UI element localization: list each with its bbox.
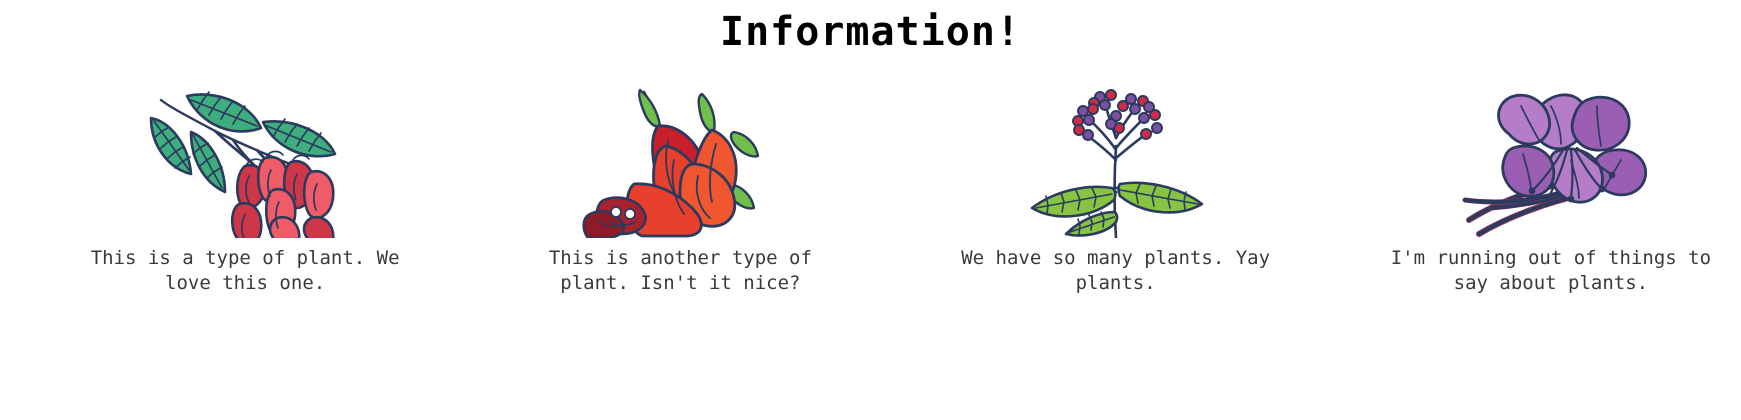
purple-flower-illustration — [1451, 88, 1651, 238]
purple-berry-cluster-plant-illustration — [1016, 88, 1216, 238]
plant-card-row: This is a type of plant. We love this on… — [0, 88, 1741, 296]
information-page: Information! — [0, 0, 1741, 420]
plant-card: This is a type of plant. We love this on… — [55, 88, 435, 296]
purple-flower-svg — [1451, 88, 1651, 238]
plant-card-caption: I'm running out of things to say about p… — [1386, 246, 1716, 296]
red-chili-peppers-illustration — [580, 88, 780, 238]
plant-card: I'm running out of things to say about p… — [1361, 88, 1741, 296]
plant-card-caption: This is another type of plant. Isn't it … — [515, 246, 845, 296]
plant-card-caption: We have so many plants. Yay plants. — [951, 246, 1281, 296]
red-berries-branch-svg — [145, 88, 345, 238]
plant-card-caption: This is a type of plant. We love this on… — [80, 246, 410, 296]
red-berries-branch-illustration — [145, 88, 345, 238]
plant-card: We have so many plants. Yay plants. — [926, 88, 1306, 296]
plant-card: This is another type of plant. Isn't it … — [490, 88, 870, 296]
page-title: Information! — [0, 8, 1741, 56]
purple-berry-cluster-plant-svg — [1016, 88, 1216, 238]
red-chili-peppers-svg — [580, 88, 780, 238]
